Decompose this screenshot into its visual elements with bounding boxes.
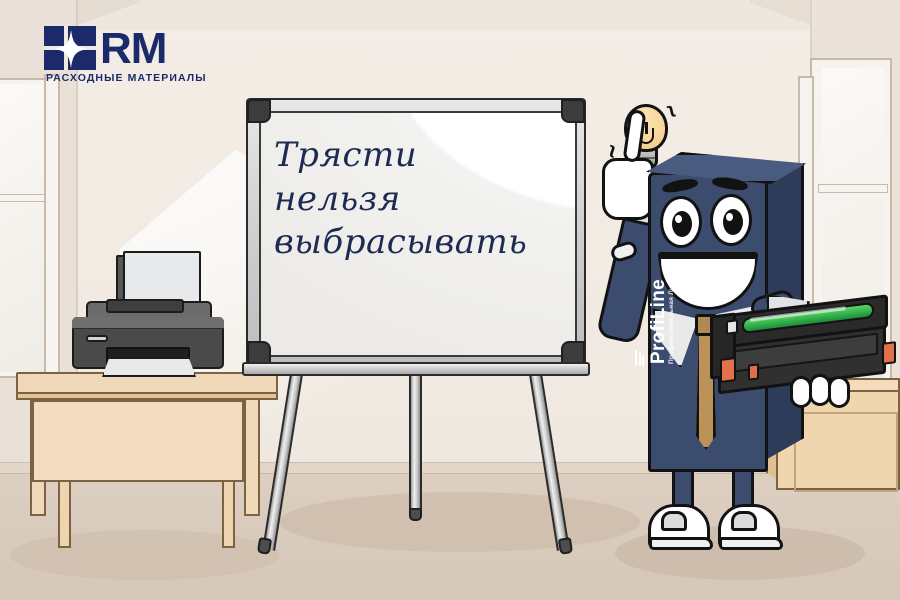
whiteboard-marker-tray <box>242 362 590 376</box>
easel-leg-right <box>529 373 570 551</box>
mascot-eye-right <box>710 194 752 246</box>
printer-power-button[interactable] <box>86 335 108 342</box>
mascot-pupil-right <box>723 209 743 235</box>
toner-tab-right <box>882 341 896 365</box>
whiteboard-easel: Трясти нельзя выбрасывать <box>246 98 586 528</box>
mascot-mouth-line <box>658 252 758 258</box>
whiteboard-frame: Трясти нельзя выбрасывать <box>246 98 586 366</box>
brand-subtitle: Профессиональная Линия <box>668 274 675 364</box>
brand-bars-icon <box>635 348 644 366</box>
mascot-index-finger <box>622 109 646 163</box>
mascot-shoe-right <box>718 504 780 550</box>
toner-drum-gear <box>726 319 738 334</box>
whiteboard-corner-top-left <box>247 99 271 123</box>
desk-leg-back-right <box>222 480 235 548</box>
brand-name: ProfiLine <box>648 279 670 364</box>
wooden-desk <box>16 372 278 520</box>
logo-tagline: РАСХОДНЫЕ МАТЕРИАЛЫ <box>46 72 207 84</box>
whiteboard-handwritten-text: Трясти нельзя выбрасывать <box>274 134 546 265</box>
desk-leg-back-left <box>58 480 71 548</box>
mascot-shoe-left <box>648 504 710 550</box>
easel-foot-right <box>558 537 573 555</box>
mascot-shoe-strap-right <box>731 511 757 531</box>
mascot-shoe-strap-left <box>661 511 687 531</box>
mascot-shoe-sole-right <box>719 537 783 550</box>
four-point-star-icon <box>54 30 88 68</box>
mascot-pupil-left <box>672 211 692 237</box>
easel-foot-center <box>409 508 422 521</box>
illustration-canvas: Трясти нельзя выбрасывать ʅ ʅ <box>0 0 900 600</box>
whiteboard-corner-top-right <box>561 99 585 123</box>
easel-leg-left <box>262 373 303 551</box>
desk-panel <box>32 400 244 482</box>
mascot-knuckle-3 <box>828 376 850 408</box>
printer-lid-inset <box>106 299 184 313</box>
mascot-left-hand <box>602 158 654 220</box>
logo-wordmark: RM <box>100 24 166 74</box>
toner-tab-left <box>720 357 736 383</box>
printer-body-top <box>72 317 224 329</box>
easel-leg-center <box>409 374 422 516</box>
window-left <box>0 78 60 378</box>
printer-output-paper <box>102 357 196 377</box>
window-left-glass <box>0 84 46 372</box>
mascot-right-hand <box>790 376 852 412</box>
window-left-jamb <box>44 74 60 382</box>
rm-logo: RM РАСХОДНЫЕ МАТЕРИАЛЫ <box>44 26 214 86</box>
desktop-inkjet-printer <box>68 255 228 379</box>
window-left-mullion <box>0 194 48 202</box>
toner-tab-mid <box>748 363 759 380</box>
mascot-shoe-sole-left <box>649 537 713 550</box>
mascot-eye-left <box>660 196 702 248</box>
desk-floor-shadow <box>10 530 280 580</box>
